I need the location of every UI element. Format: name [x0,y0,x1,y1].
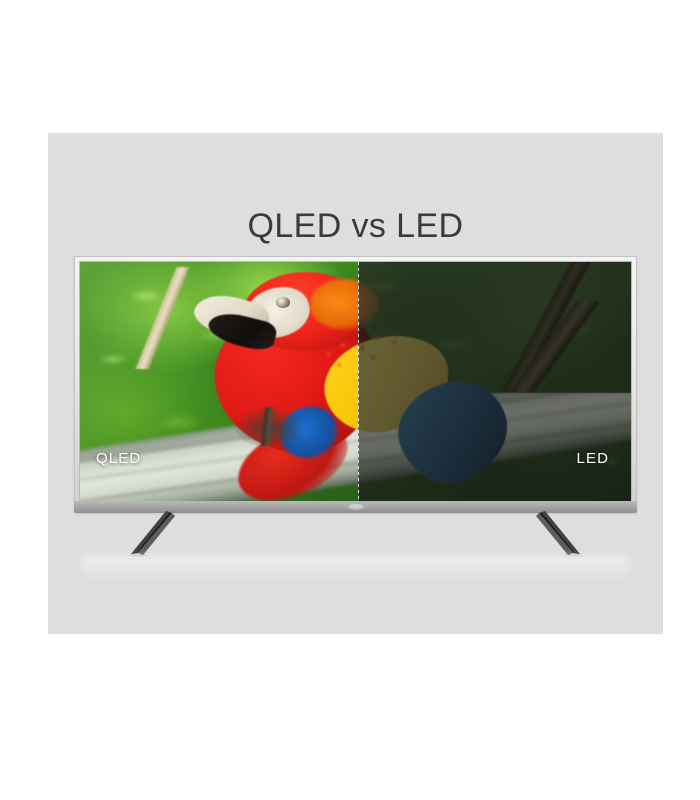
tv-leg-left-icon [122,511,178,557]
screen-label-qled: QLED [96,450,141,467]
split-divider [358,262,359,505]
led-half-overlay [358,262,631,505]
floor-reflection [82,556,629,582]
macaw-foot [235,407,303,447]
tv-brand-logo-icon [348,504,364,510]
television-product-image: QLED LED [74,256,637,576]
page-title: QLED vs LED [48,207,663,246]
product-image-panel: QLED vs LED [48,133,663,634]
tv-leg-right [533,511,589,557]
tv-leg-left [122,511,178,557]
tv-bezel: QLED LED [74,256,637,513]
tv-leg-right-icon [533,511,589,557]
screen-label-led: LED [577,450,609,467]
tv-screen: QLED LED [79,261,632,506]
